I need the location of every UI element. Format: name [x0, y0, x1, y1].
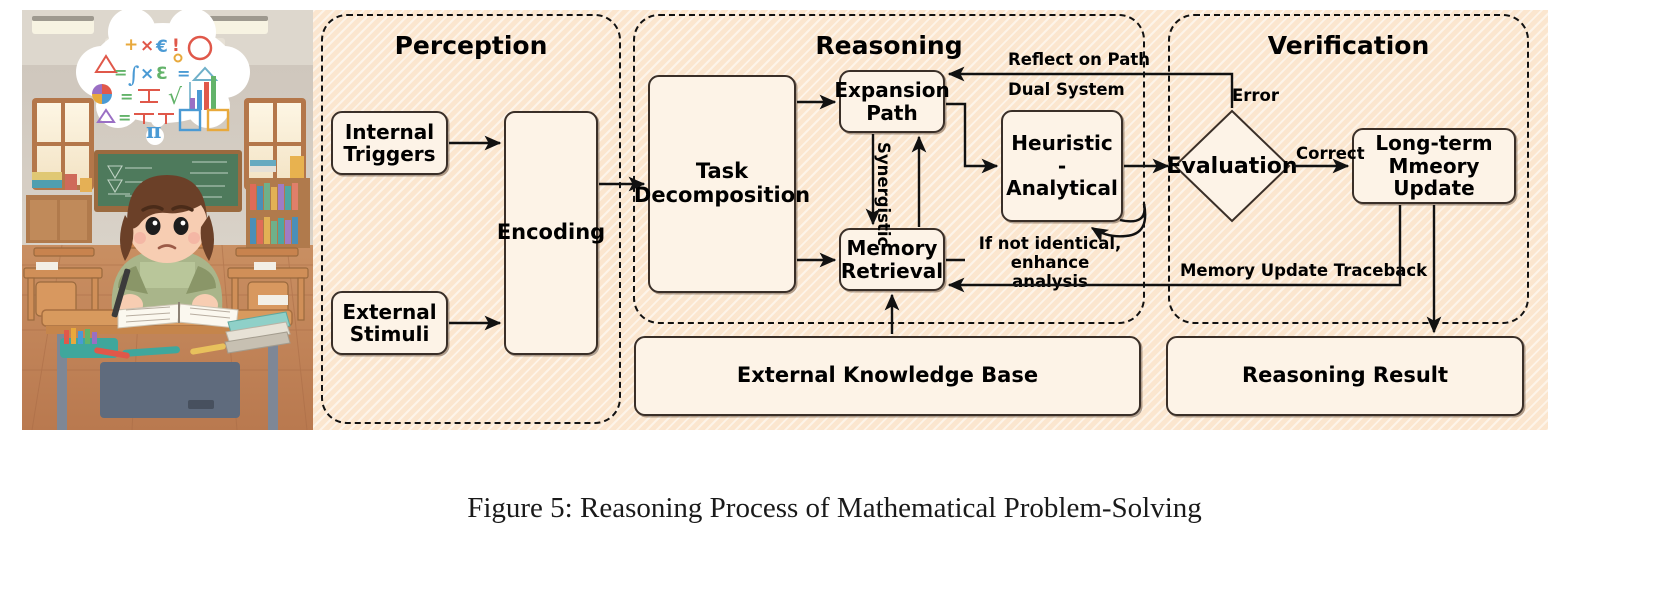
- svg-text:+: +: [124, 35, 138, 55]
- edge-label-reflect-on-path: Reflect on Path: [1008, 50, 1150, 69]
- svg-text:×: ×: [140, 36, 154, 56]
- edge-label-if-not-identical: If not identical, enhance analysis: [975, 235, 1125, 292]
- node-evaluation-label: Evaluation: [1172, 108, 1292, 224]
- edge-label-if-not-identical-line2: enhance analysis: [1011, 253, 1090, 291]
- svg-text:=: =: [118, 108, 131, 127]
- panel-perception-title: Perception: [323, 31, 619, 60]
- node-external-stimuli[interactable]: External Stimuli: [331, 291, 448, 355]
- svg-text:€: €: [155, 37, 168, 57]
- svg-text:×: ×: [140, 64, 154, 84]
- node-internal-triggers-line1: Internal: [345, 121, 434, 143]
- svg-text:π: π: [146, 118, 161, 143]
- node-internal-triggers-line2: Triggers: [343, 143, 435, 165]
- node-memory-retrieval-line2: Retrieval: [841, 260, 943, 282]
- svg-text:Ɛ: Ɛ: [156, 64, 168, 84]
- node-heuristic-analytical-line3: Analytical: [1006, 177, 1118, 199]
- svg-text:!: !: [172, 36, 180, 56]
- svg-text:=: =: [114, 63, 127, 82]
- node-reasoning-result[interactable]: Reasoning Result: [1166, 336, 1524, 416]
- edge-label-if-not-identical-line1: If not identical,: [979, 234, 1122, 253]
- node-internal-triggers[interactable]: Internal Triggers: [331, 111, 448, 175]
- edge-label-synergistic: Synergistic: [874, 142, 893, 246]
- edge-label-dual-system: Dual System: [1008, 80, 1125, 99]
- node-external-stimuli-line1: External: [342, 301, 436, 323]
- svg-text:=: =: [120, 87, 133, 106]
- panel-verification-title: Verification: [1170, 31, 1527, 60]
- node-heuristic-analytical-line2: -: [1058, 155, 1066, 177]
- node-task-decomposition-line1: Task: [696, 160, 748, 184]
- node-task-decomposition[interactable]: Task Decomposition: [648, 75, 796, 293]
- node-expansion-path[interactable]: Expansion Path: [839, 70, 945, 133]
- edge-label-correct: Correct: [1296, 144, 1365, 163]
- svg-text:=: =: [177, 64, 190, 83]
- node-heuristic-analytical[interactable]: Heuristic - Analytical: [1001, 110, 1123, 222]
- node-external-stimuli-line2: Stimuli: [350, 323, 430, 345]
- node-heuristic-analytical-line1: Heuristic: [1011, 132, 1112, 154]
- svg-text:√: √: [168, 85, 183, 110]
- node-expansion-path-line2: Path: [866, 102, 917, 124]
- node-encoding[interactable]: Encoding: [504, 111, 598, 355]
- node-external-knowledge-base-label: External Knowledge Base: [737, 364, 1038, 388]
- node-encoding-label: Encoding: [497, 221, 605, 245]
- classroom-illustration-svg: + × € ! = ∫ × Ɛ = =: [22, 10, 313, 430]
- edge-label-error: Error: [1232, 86, 1279, 105]
- node-long-term-memory-update-line2: Mmeory Update: [1354, 155, 1514, 200]
- edge-label-memory-update-traceback: Memory Update Traceback: [1180, 261, 1427, 280]
- node-expansion-path-line1: Expansion: [834, 79, 949, 101]
- node-reasoning-result-label: Reasoning Result: [1242, 364, 1448, 388]
- classroom-illustration: + × € ! = ∫ × Ɛ = =: [22, 10, 313, 430]
- figure-reasoning-process: + × € ! = ∫ × Ɛ = =: [0, 0, 1669, 589]
- node-long-term-memory-update-line1: Long-term: [1375, 132, 1492, 154]
- node-external-knowledge-base[interactable]: External Knowledge Base: [634, 336, 1141, 416]
- node-task-decomposition-line2: Decomposition: [634, 184, 810, 208]
- figure-caption: Figure 5: Reasoning Process of Mathemati…: [0, 492, 1669, 525]
- svg-text:∫: ∫: [128, 63, 140, 88]
- node-long-term-memory-update[interactable]: Long-term Mmeory Update: [1352, 128, 1516, 204]
